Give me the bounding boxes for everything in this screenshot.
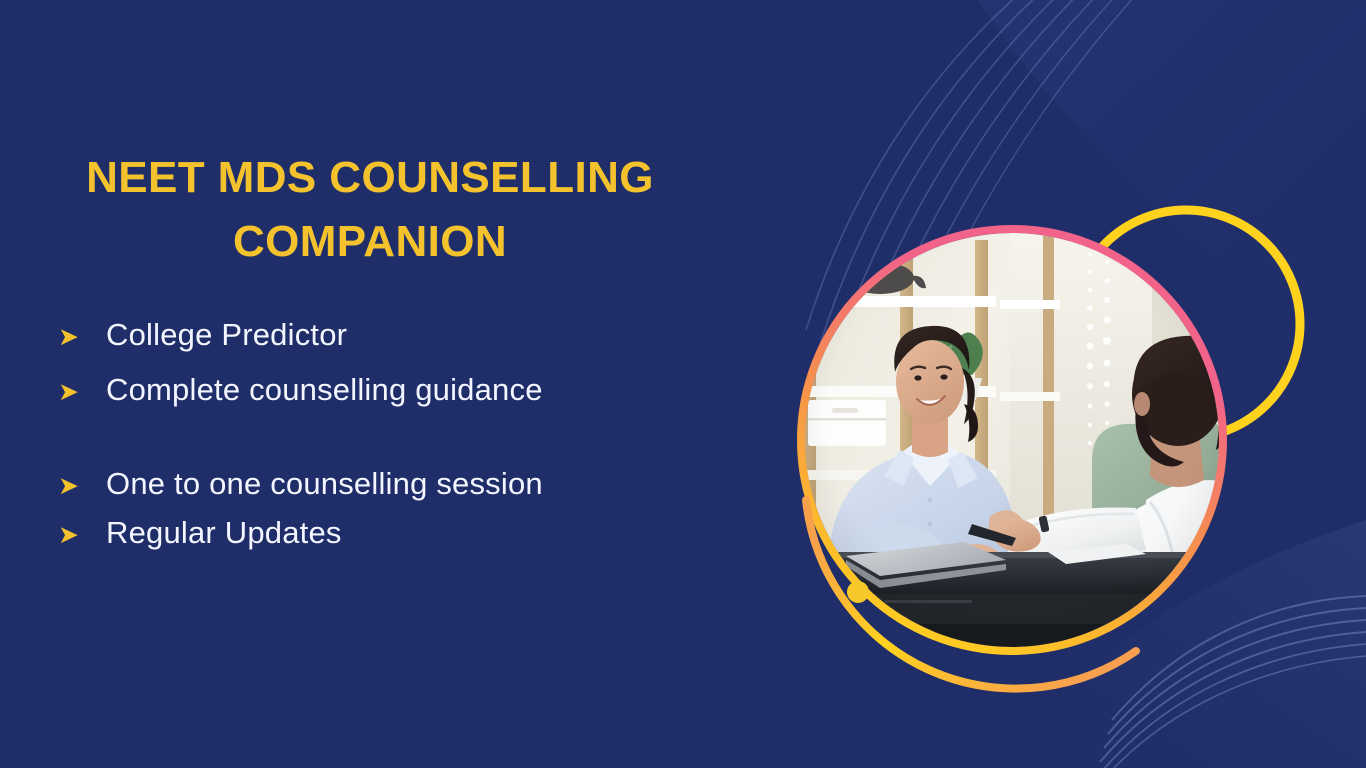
- photo-composition: Smiling woman in light blue shirt seated…: [0, 0, 1366, 768]
- slide-root: NEET MDS COUNSELLING COMPANION ➤ College…: [0, 0, 1366, 768]
- ring-accent-dot: [847, 581, 869, 603]
